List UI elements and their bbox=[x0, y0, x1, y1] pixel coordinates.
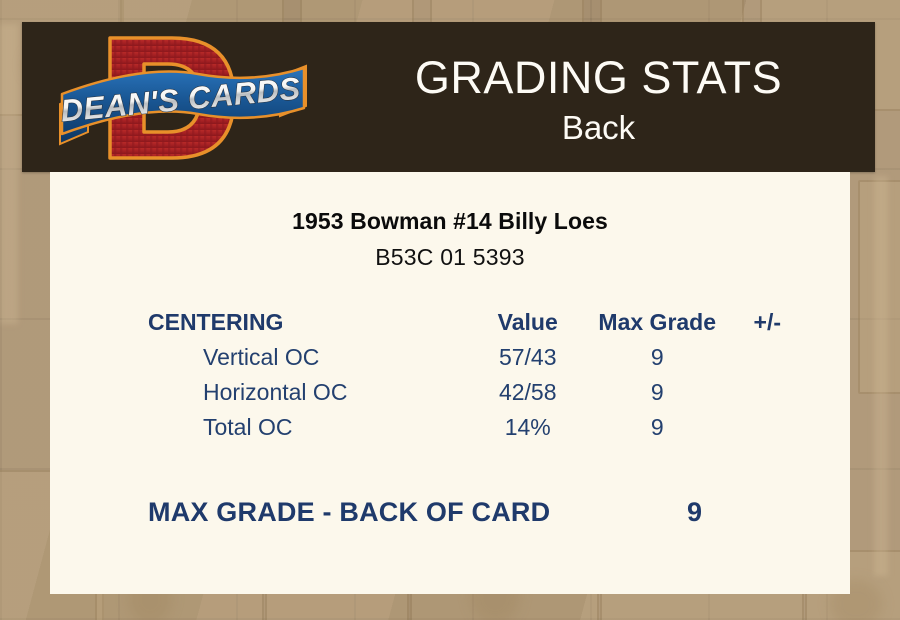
column-header-value: Value bbox=[468, 304, 588, 340]
page-root: DEAN'S CARDS GRADING STATS Back 1953 Bow… bbox=[0, 0, 900, 620]
row-plus-minus bbox=[727, 410, 808, 445]
card-title: 1953 Bowman #14 Billy Loes bbox=[50, 208, 850, 235]
row-max-grade: 9 bbox=[588, 340, 727, 375]
page-title: GRADING STATS bbox=[415, 52, 782, 104]
row-value: 42/58 bbox=[468, 375, 588, 410]
row-label: Horizontal OC bbox=[148, 375, 468, 410]
column-header-max-grade: Max Grade bbox=[588, 304, 727, 340]
max-grade-value: 9 bbox=[687, 497, 808, 528]
deans-cards-logo[interactable]: DEAN'S CARDS bbox=[48, 28, 318, 168]
column-header-centering: CENTERING bbox=[148, 304, 468, 340]
max-grade-label: MAX GRADE - BACK OF CARD bbox=[148, 497, 550, 528]
row-label: Vertical OC bbox=[148, 340, 468, 375]
row-label: Total OC bbox=[148, 410, 468, 445]
row-plus-minus bbox=[727, 340, 808, 375]
background-streak bbox=[0, 24, 18, 324]
max-grade-summary: MAX GRADE - BACK OF CARD 9 bbox=[148, 497, 808, 528]
page-subtitle: Back bbox=[562, 108, 635, 148]
row-max-grade: 9 bbox=[588, 375, 727, 410]
background-streak bbox=[874, 176, 888, 576]
row-plus-minus bbox=[727, 375, 808, 410]
card-id: B53C 01 5393 bbox=[50, 244, 850, 271]
logo-svg: DEAN'S CARDS bbox=[48, 28, 318, 168]
stats-panel: 1953 Bowman #14 Billy Loes B53C 01 5393 … bbox=[50, 172, 850, 594]
table-row: Vertical OC 57/43 9 bbox=[148, 340, 808, 375]
header-bar: DEAN'S CARDS GRADING STATS Back bbox=[22, 22, 875, 172]
header-titles: GRADING STATS Back bbox=[322, 22, 875, 172]
column-header-plus-minus: +/- bbox=[727, 304, 808, 340]
row-max-grade: 9 bbox=[588, 410, 727, 445]
row-value: 14% bbox=[468, 410, 588, 445]
table-header-row: CENTERING Value Max Grade +/- bbox=[148, 304, 808, 340]
table-row: Total OC 14% 9 bbox=[148, 410, 808, 445]
row-value: 57/43 bbox=[468, 340, 588, 375]
centering-stats-table: CENTERING Value Max Grade +/- Vertical O… bbox=[148, 304, 808, 445]
table-row: Horizontal OC 42/58 9 bbox=[148, 375, 808, 410]
